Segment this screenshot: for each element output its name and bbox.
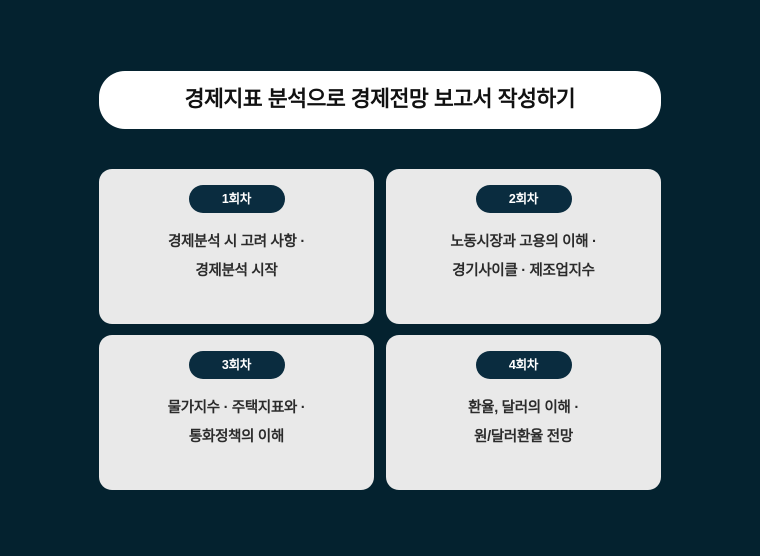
session-card-1-body: 경제분석 시 고려 사항 · 경제분석 시작 bbox=[99, 235, 374, 280]
session-badge-1: 1회차 bbox=[189, 185, 285, 213]
session-card-line: 경기사이클 · 제조업지수 bbox=[452, 264, 594, 280]
session-badge-label: 2회차 bbox=[509, 193, 538, 206]
session-card-4-body: 환율, 달러의 이해 · 원/달러환율 전망 bbox=[386, 401, 661, 446]
session-badge-label: 1회차 bbox=[222, 193, 251, 206]
session-card-line: 환율, 달러의 이해 · bbox=[468, 401, 579, 417]
session-card-4[interactable]: 4회차 환율, 달러의 이해 · 원/달러환율 전망 bbox=[386, 335, 661, 490]
session-card-line: 경제분석 시작 bbox=[196, 264, 278, 280]
session-card-2-body: 노동시장과 고용의 이해 · 경기사이클 · 제조업지수 bbox=[386, 235, 661, 280]
session-badge-3: 3회차 bbox=[189, 351, 285, 379]
session-card-line: 원/달러환율 전망 bbox=[474, 430, 573, 446]
session-card-line: 통화정책의 이해 bbox=[189, 430, 284, 446]
session-card-1[interactable]: 1회차 경제분석 시 고려 사항 · 경제분석 시작 bbox=[99, 169, 374, 324]
session-badge-4: 4회차 bbox=[476, 351, 572, 379]
session-card-line: 물가지수 · 주택지표와 · bbox=[168, 401, 306, 417]
session-card-line: 노동시장과 고용의 이해 · bbox=[450, 235, 596, 251]
session-card-line: 경제분석 시 고려 사항 · bbox=[168, 235, 305, 251]
session-card-3-body: 물가지수 · 주택지표와 · 통화정책의 이해 bbox=[99, 401, 374, 446]
title-banner: 경제지표 분석으로 경제전망 보고서 작성하기 bbox=[99, 71, 661, 129]
curriculum-poster: 경제지표 분석으로 경제전망 보고서 작성하기 1회차 경제분석 시 고려 사항… bbox=[0, 0, 760, 556]
session-badge-2: 2회차 bbox=[476, 185, 572, 213]
page-title: 경제지표 분석으로 경제전망 보고서 작성하기 bbox=[185, 89, 576, 111]
session-card-3[interactable]: 3회차 물가지수 · 주택지표와 · 통화정책의 이해 bbox=[99, 335, 374, 490]
session-card-2[interactable]: 2회차 노동시장과 고용의 이해 · 경기사이클 · 제조업지수 bbox=[386, 169, 661, 324]
session-badge-label: 4회차 bbox=[509, 359, 538, 372]
session-card-grid: 1회차 경제분석 시 고려 사항 · 경제분석 시작 2회차 노동시장과 고용의… bbox=[99, 169, 661, 490]
session-badge-label: 3회차 bbox=[222, 359, 251, 372]
